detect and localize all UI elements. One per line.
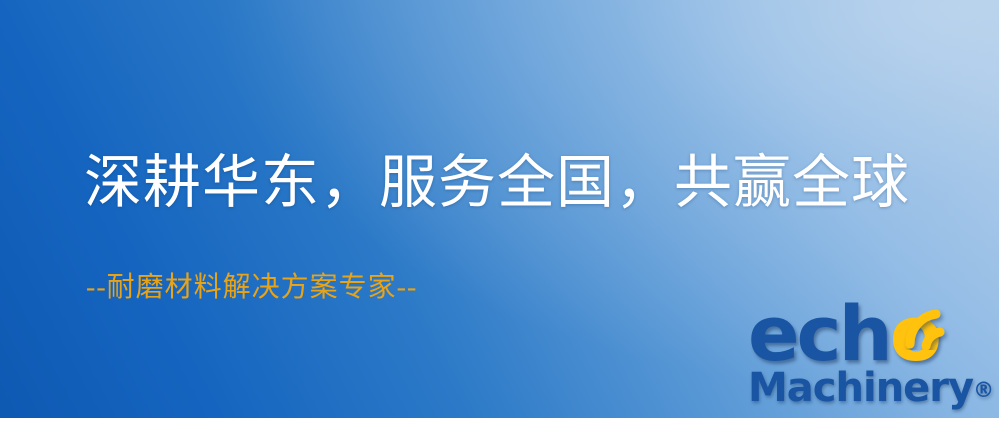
- logo-subword-text: Machinery: [748, 365, 973, 411]
- banner-headline: 深耕华东，服务全国，共赢全球: [84, 152, 910, 213]
- logo-subword: Machinery®: [748, 368, 994, 408]
- registered-trademark-icon: ®: [973, 378, 994, 402]
- wifi-arcs-icon: [896, 292, 960, 350]
- banner-bottom-strip: [0, 418, 999, 422]
- promo-banner: 深耕华东，服务全国，共赢全球 --耐磨材料解决方案专家-- echo Machi…: [0, 0, 999, 422]
- banner-subheadline: --耐磨材料解决方案专家--: [86, 265, 417, 305]
- company-logo[interactable]: echo Machinery®: [744, 296, 994, 418]
